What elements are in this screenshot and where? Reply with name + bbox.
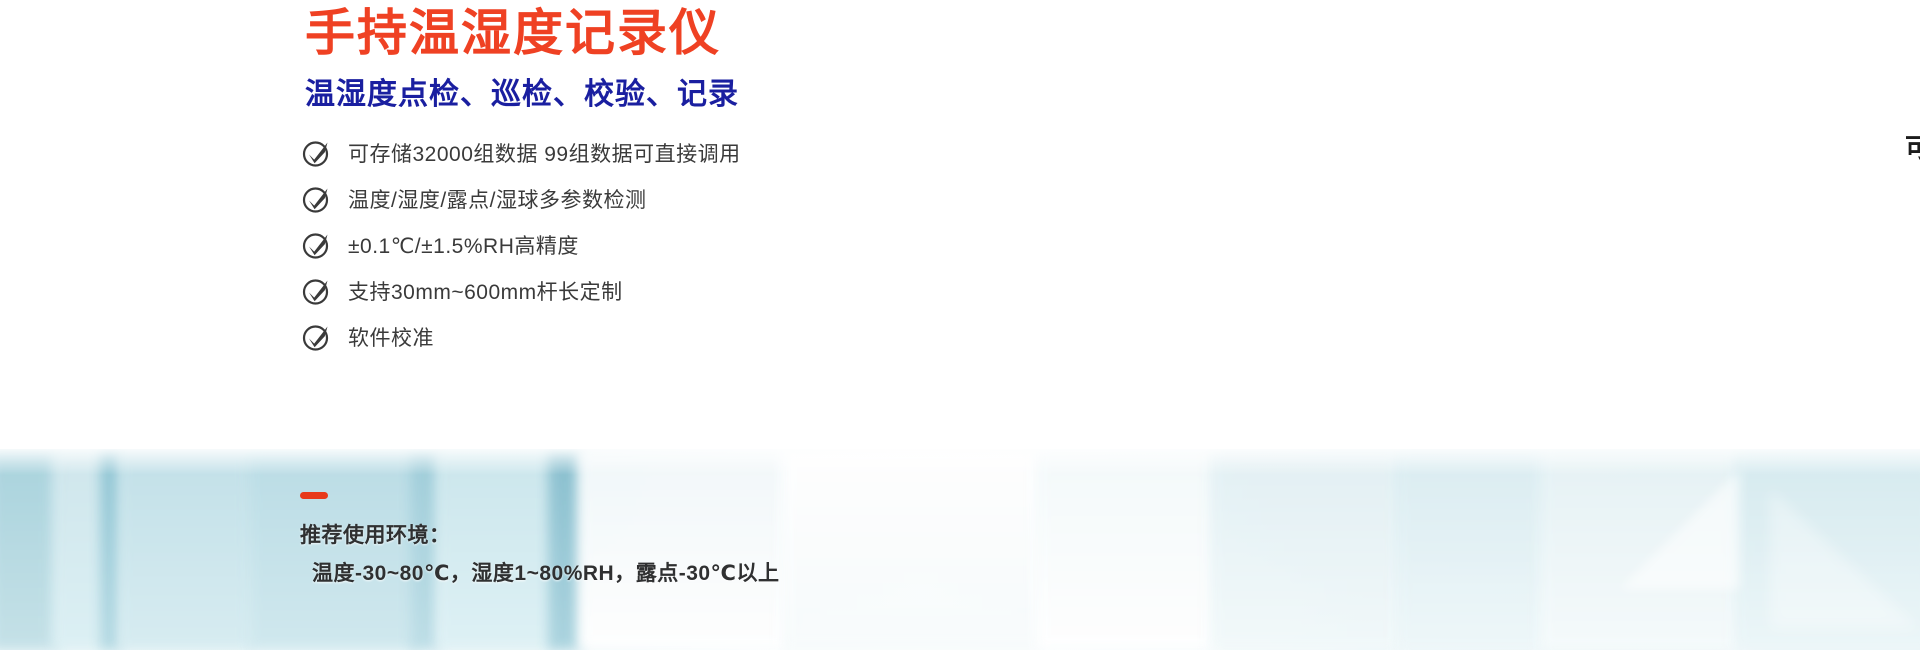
feature-text: 支持30mm~600mm杆长定制 bbox=[348, 276, 623, 306]
list-item: 温度/湿度/露点/湿球多参数检测 bbox=[300, 176, 920, 222]
check-circle-icon bbox=[300, 228, 334, 262]
feature-text: ±0.1℃/±1.5%RH高精度 bbox=[348, 230, 579, 260]
recommendation-detail: 温度-30~80℃，湿度1~80%RH，露点-30℃以上 bbox=[300, 555, 1020, 593]
check-circle-icon bbox=[300, 320, 334, 354]
page-subtitle: 温湿度点检、巡检、校验、记录 bbox=[305, 80, 739, 110]
check-circle-icon bbox=[300, 136, 334, 170]
list-item: 软件校准 bbox=[300, 314, 920, 360]
page-title: 手持温湿度记录仪 bbox=[305, 8, 721, 58]
check-circle-icon bbox=[300, 274, 334, 308]
recommendation-heading: 推荐使用环境： bbox=[300, 517, 1020, 555]
list-item: 可存储32000组数据 99组数据可直接调用 bbox=[300, 130, 920, 176]
check-circle-icon bbox=[300, 182, 334, 216]
feature-text: 温度/湿度/露点/湿球多参数检测 bbox=[348, 184, 647, 214]
probe-label: 可拆换探头 bbox=[1905, 128, 1920, 165]
product-banner: 手持温湿度记录仪 温湿度点检、巡检、校验、记录 可存储32000组数据 99组数… bbox=[0, 0, 1920, 650]
feature-text: 软件校准 bbox=[348, 322, 434, 352]
list-item: 支持30mm~600mm杆长定制 bbox=[300, 268, 920, 314]
feature-list: 可存储32000组数据 99组数据可直接调用 温度/湿度/露点/湿球多参数检测 bbox=[300, 130, 920, 360]
copy-block: 手持温湿度记录仪 温湿度点检、巡检、校验、记录 可存储32000组数据 99组数… bbox=[0, 0, 960, 650]
recommendation-block: 推荐使用环境： 温度-30~80℃，湿度1~80%RH，露点-30℃以上 bbox=[300, 492, 1020, 593]
accent-dash bbox=[300, 492, 328, 499]
product-image-area: HENGKO 52.0 % RH 28.08 ℃ HG970 MAX/MIN H… bbox=[920, 0, 1920, 650]
feature-text: 可存储32000组数据 99组数据可直接调用 bbox=[348, 138, 741, 168]
list-item: ±0.1℃/±1.5%RH高精度 bbox=[300, 222, 920, 268]
